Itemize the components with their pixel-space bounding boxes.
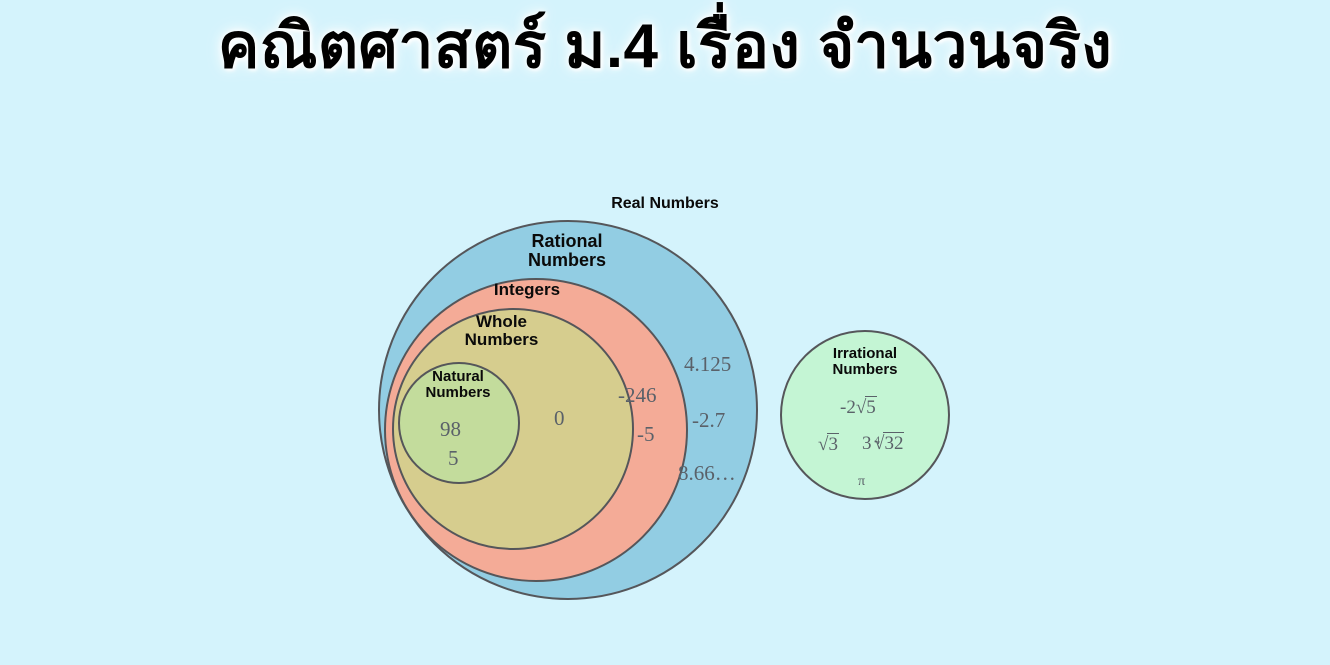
label-irrational-numbers: Irrational Numbers: [795, 346, 935, 378]
label-real-numbers: Real Numbers: [565, 195, 765, 212]
radicand: 32: [883, 432, 904, 455]
example-natural-5: 5: [448, 446, 459, 471]
radical-expression: √3: [818, 433, 839, 456]
label-rational-numbers: Rational Numbers: [492, 232, 642, 271]
radical-coefficient: 3: [862, 433, 872, 454]
example-irrational-pi: π: [858, 474, 865, 490]
radical-coefficient: -2: [840, 397, 856, 418]
label-natural-numbers: Natural Numbers: [398, 369, 518, 401]
radical-expression: -2√5: [840, 396, 877, 419]
example-integer-negative-246: -246: [618, 383, 657, 408]
label-integers: Integers: [452, 281, 602, 299]
radical-index: 4: [875, 435, 881, 447]
example-rational-4-125: 4.125: [684, 352, 731, 377]
radicand: 3: [827, 433, 839, 456]
label-whole-numbers: Whole Numbers: [435, 313, 568, 350]
example-irrational-3-fourth-root-32: 34√32: [862, 432, 904, 455]
real-number-system-diagram: Real Numbers Rational Numbers Integers W…: [0, 0, 1330, 665]
radicand: 5: [865, 396, 877, 419]
example-rational-negative-2-7: -2.7: [692, 408, 725, 433]
example-whole-0: 0: [554, 406, 565, 431]
example-rational-8-66-repeating: 8.66…: [678, 461, 736, 486]
example-integer-negative-5: -5: [637, 422, 655, 447]
slide-canvas: คณิตศาสตร์ ม.4 เรื่อง จำนวนจริง Real Num…: [0, 0, 1330, 665]
example-irrational-negative-2-root-5: -2√5: [840, 396, 877, 419]
example-natural-98: 98: [440, 417, 461, 442]
example-irrational-root-3: √3: [818, 433, 839, 456]
radical-expression: 34√32: [862, 432, 904, 455]
